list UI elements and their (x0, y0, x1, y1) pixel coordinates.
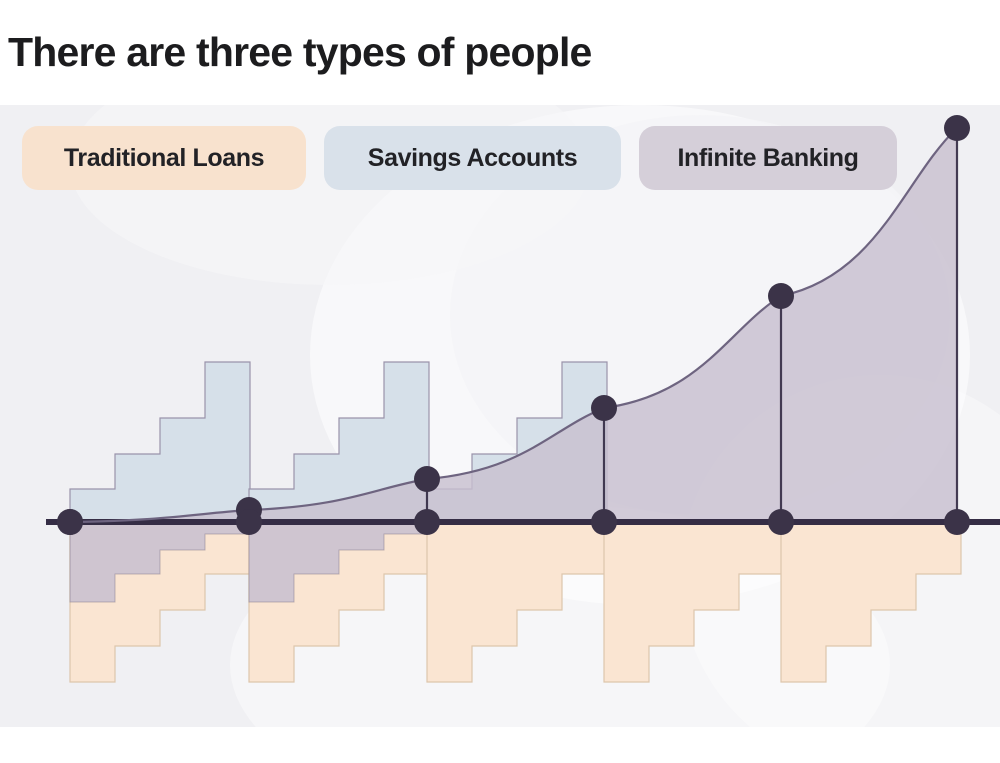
legend-label-savings-accounts: Savings Accounts (368, 144, 577, 173)
curve-marker-3[interactable] (414, 466, 440, 492)
screenshot-root: There are three types of people Traditio… (0, 0, 1000, 763)
title-bar: There are three types of people (0, 0, 1000, 105)
loans-staircase-4 (604, 522, 784, 682)
page-title: There are three types of people (8, 30, 592, 75)
loans-staircase-5 (781, 522, 961, 682)
legend-chip-infinite-banking[interactable]: Infinite Banking (639, 126, 897, 190)
legend-label-infinite-banking: Infinite Banking (677, 144, 858, 173)
axis-marker-5[interactable] (768, 509, 794, 535)
axis-marker-3[interactable] (414, 509, 440, 535)
loans-staircase-3 (427, 522, 607, 682)
axis-marker-2[interactable] (236, 509, 262, 535)
curve-marker-5[interactable] (768, 283, 794, 309)
chart-panel: Traditional Loans Savings Accounts Infin… (0, 105, 1000, 727)
axis-marker-6[interactable] (944, 509, 970, 535)
curve-marker-6[interactable] (944, 115, 970, 141)
chart-legend: Traditional Loans Savings Accounts Infin… (22, 126, 897, 190)
chart-plot-area (0, 105, 1000, 727)
legend-chip-traditional-loans[interactable]: Traditional Loans (22, 126, 306, 190)
axis-marker-4[interactable] (591, 509, 617, 535)
savings-staircase-1 (70, 362, 250, 522)
legend-chip-savings-accounts[interactable]: Savings Accounts (324, 126, 621, 190)
curve-marker-4[interactable] (591, 395, 617, 421)
axis-marker-1[interactable] (57, 509, 83, 535)
legend-label-traditional-loans: Traditional Loans (64, 144, 264, 173)
